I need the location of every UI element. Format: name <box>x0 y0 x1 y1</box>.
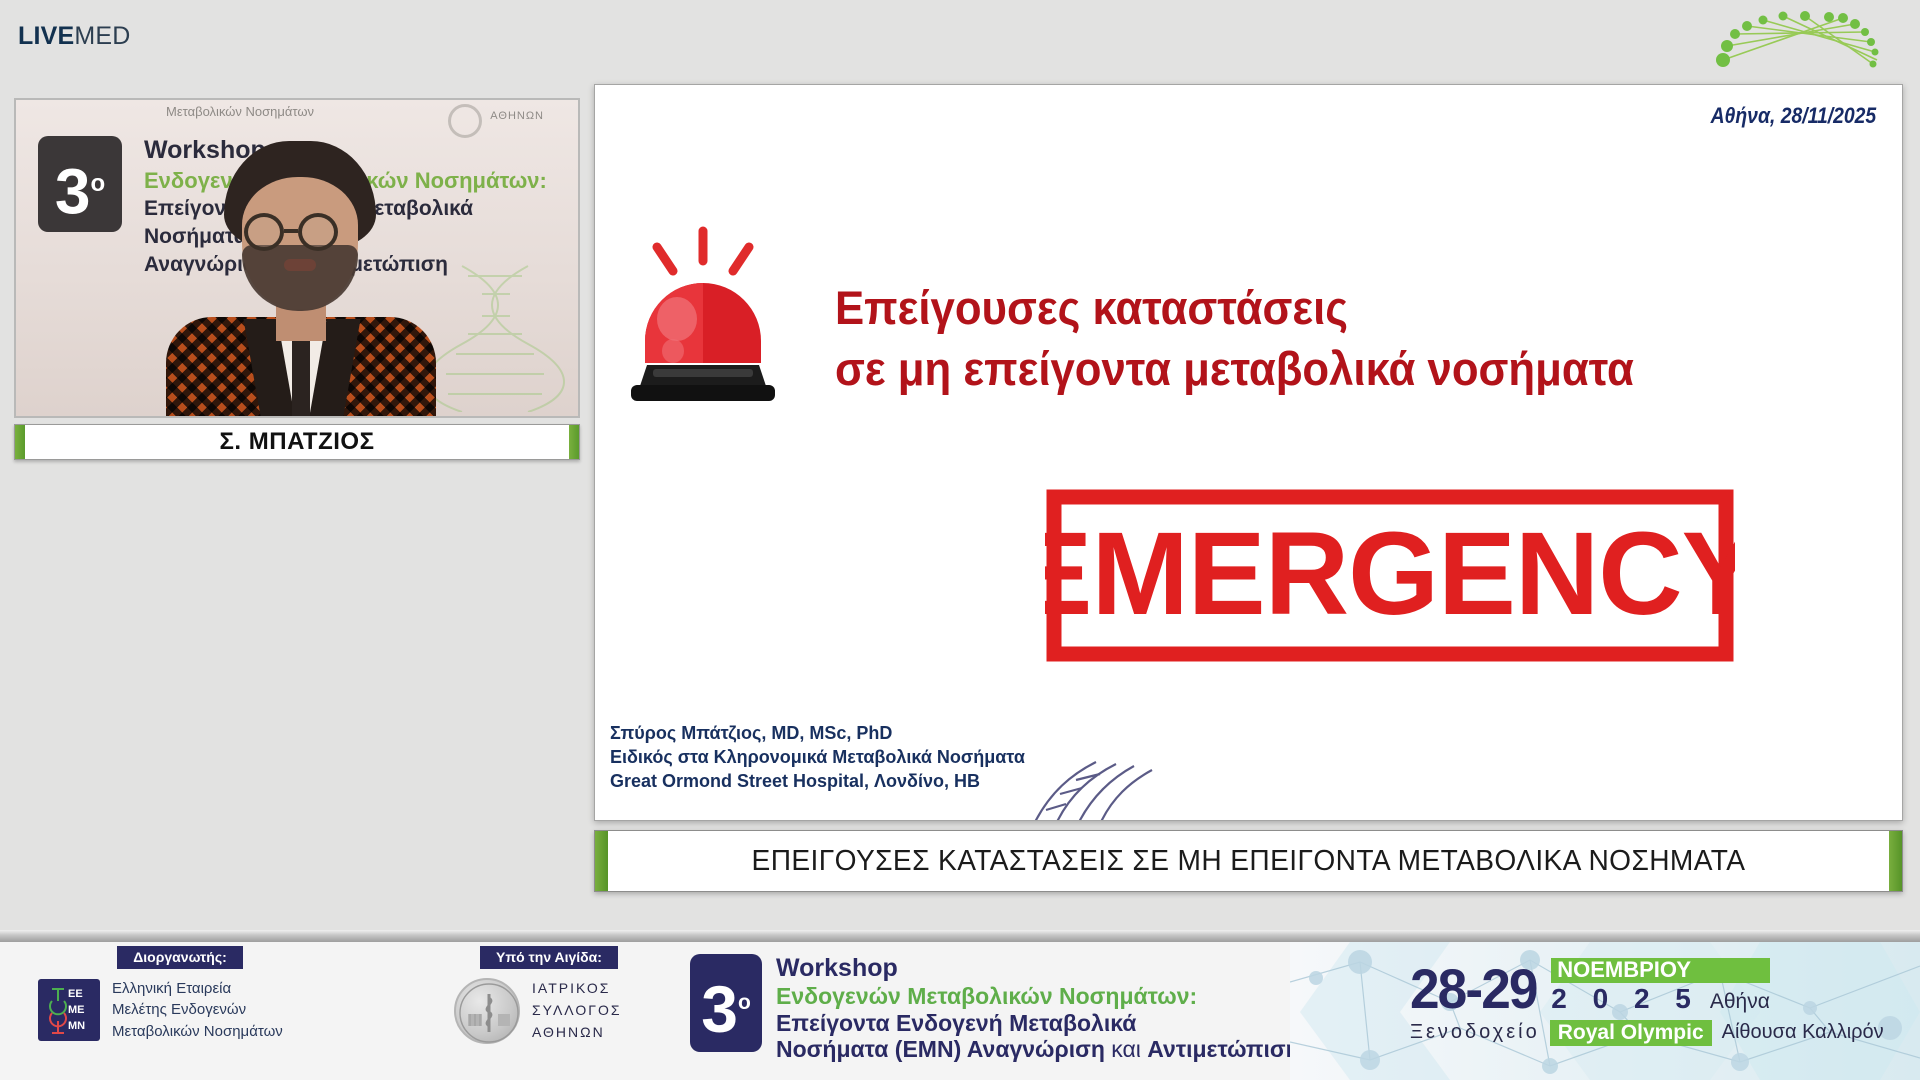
emergency-stamp-text: EMERGENCY <box>1045 507 1735 639</box>
speaker-figure <box>166 141 436 416</box>
name-bar-accent-right <box>569 425 579 459</box>
name-bar-accent-left <box>15 425 25 459</box>
speaker-video-player[interactable]: Μεταβολικών Νοσημάτων ΑΘΗΝΩΝ 3o Workshop… <box>14 98 580 418</box>
backdrop-ordinal: o <box>90 170 105 197</box>
emergency-stamp: EMERGENCY <box>1045 488 1735 663</box>
event-city: Αθήνα <box>1710 990 1770 1014</box>
presentation-slide[interactable]: Αθήνα, 28/11/2025 Επείγουσες καταστάσεις… <box>594 84 1903 821</box>
athens-medical-association-seal <box>454 978 520 1044</box>
workshop-line2: Ενδογενών Μεταβολικών Νοσημάτων: <box>776 983 1300 1010</box>
session-title: ΕΠΕΙΓΟΥΣΕΣ ΚΑΤΑΣΤΑΣΕΙΣ ΣΕ ΜΗ ΕΠΕΙΓΟΝΤΑ Μ… <box>627 845 1870 878</box>
eemen-society-logo: ΕΕΜΕΜΝ <box>38 979 100 1041</box>
workshop-line4-lite: και <box>1105 1036 1147 1062</box>
credits-line1: Σπύρος Μπάτζιος, MD, MSc, PhD <box>610 721 1025 745</box>
event-hotel-name: Royal Olympic <box>1550 1020 1712 1046</box>
bottom-bar-accent-right <box>1889 831 1902 891</box>
livemed-logo[interactable]: LIVEMED <box>18 22 131 51</box>
emergency-beacon-light-icon <box>623 223 783 403</box>
event-dates: 28-29 <box>1410 963 1537 1015</box>
backdrop-top-faint-text: Μεταβολικών Νοσημάτων <box>166 104 314 119</box>
backdrop-seal-text: ΑΘΗΝΩΝ <box>490 110 544 122</box>
backdrop-number: 3 <box>55 155 91 227</box>
event-info-block: 28-29 ΝΟΕΜΒΡΙΟΥ 2 0 2 5 Αθήνα Ξενοδοχείο… <box>1290 942 1920 1080</box>
auspices-block: Υπό την Αιγίδα: ΙΑΤΡΙΚΟΣ ΣΥΛΛΟΓΟΣ ΑΘΗΝΩΝ <box>424 946 684 1044</box>
event-month: ΝΟΕΜΒΡΙΟΥ <box>1551 958 1770 983</box>
auspices-name: ΙΑΤΡΙΚΟΣ ΣΥΛΛΟΓΟΣ ΑΘΗΝΩΝ <box>532 978 622 1043</box>
slide-title-line1: Επείγουσες καταστάσεις <box>835 277 1812 338</box>
auspices-tag: Υπό την Αιγίδα: <box>480 946 618 969</box>
event-year: 2 0 2 5 <box>1551 983 1700 1015</box>
bottom-bar-accent-left <box>595 831 608 891</box>
organiser-line1: Ελληνική Εταιρεία <box>112 978 283 999</box>
dna-strand-icon <box>1000 752 1190 821</box>
speaker-glasses-bridge <box>284 229 298 233</box>
speaker-inner-vest <box>292 337 310 416</box>
event-footer: Διοργανωτής: ΕΕΜΕΜΝ <box>0 942 1920 1080</box>
workshop-ordinal: o <box>738 991 751 1014</box>
speaker-beard <box>242 245 358 311</box>
dna-strand-icon <box>432 262 572 412</box>
slide-date: Αθήνα, 28/11/2025 <box>1710 103 1876 129</box>
brand-med-text: MED <box>74 22 130 50</box>
credits-line2: Ειδικός στα Κληρονομικά Μεταβολικά Νοσήμ… <box>610 745 1025 769</box>
video-frame[interactable]: Μεταβολικών Νοσημάτων ΑΘΗΝΩΝ 3o Workshop… <box>14 98 580 418</box>
organiser-name: Ελληνική Εταιρεία Μελέτης Ενδογενών Μετα… <box>112 978 283 1042</box>
auspices-line1: ΙΑΤΡΙΚΟΣ <box>532 978 622 1000</box>
workshop-branding: 3o Workshop Ενδογενών Μεταβολικών Νοσημά… <box>690 954 1300 1063</box>
workshop-line1: Workshop <box>776 954 1300 983</box>
backdrop-seal-icon <box>448 104 482 138</box>
event-hall: Αίθουσα Καλλιρόν <box>1722 1021 1884 1044</box>
svg-text:ΕΕ: ΕΕ <box>68 988 83 1000</box>
speaker-name: Σ. ΜΠΑΤΖΙΟΣ <box>25 428 569 456</box>
workshop-number: 3 <box>701 972 738 1046</box>
speaker-glasses-right <box>298 213 338 251</box>
organiser-line2: Μελέτης Ενδογενών <box>112 999 283 1020</box>
organiser-tag: Διοργανωτής: <box>117 946 243 969</box>
event-hotel-label: Ξενοδοχείο <box>1410 1021 1540 1044</box>
slide-title: Επείγουσες καταστάσεις σε μη επείγοντα μ… <box>835 277 1812 399</box>
credits-line3: Great Ormond Street Hospital, Λονδίνο, Η… <box>610 769 1025 793</box>
svg-text:ΜΕ: ΜΕ <box>68 1004 85 1016</box>
session-title-bar: ΕΠΕΙΓΟΥΣΕΣ ΚΑΤΑΣΤΑΣΕΙΣ ΣΕ ΜΗ ΕΠΕΙΓΟΝΤΑ Μ… <box>594 830 1903 892</box>
auspices-line2: ΣΥΛΛΟΓΟΣ <box>532 1000 622 1022</box>
organiser-line3: Μεταβολικών Νοσημάτων <box>112 1021 283 1042</box>
speaker-name-bar: Σ. ΜΠΑΤΖΙΟΣ <box>14 424 580 460</box>
speaker-credentials: Σπύρος Μπάτζιος, MD, MSc, PhD Ειδικός στ… <box>610 721 1025 793</box>
workshop-line3: Επείγοντα Ενδογενή Μεταβολικά <box>776 1010 1300 1037</box>
molecule-network-icon <box>1705 2 1895 68</box>
slide-title-line2: σε μη επείγοντα μεταβολικά νοσήματα <box>835 338 1812 399</box>
organiser-block: Διοργανωτής: ΕΕΜΕΜΝ <box>12 946 372 1042</box>
workshop-title: Workshop Ενδογενών Μεταβολικών Νοσημάτων… <box>776 954 1300 1063</box>
workshop-number-badge: 3o <box>690 954 762 1052</box>
brand-live-text: LIVE <box>18 22 74 50</box>
auspices-line3: ΑΘΗΝΩΝ <box>532 1022 622 1044</box>
speaker-mouth <box>284 259 316 271</box>
footer-divider <box>0 930 1920 942</box>
workshop-line4: Νοσήματα (ΕΜΝ) Αναγνώριση και Αντιμετώπι… <box>776 1036 1300 1063</box>
workshop-line4-b: Αντιμετώπιση <box>1147 1036 1299 1062</box>
svg-text:ΜΝ: ΜΝ <box>68 1020 85 1032</box>
app-header: LIVEMED <box>0 0 1920 70</box>
workshop-line4-a: Νοσήματα (ΕΜΝ) Αναγνώριση <box>776 1036 1105 1062</box>
backdrop-number-badge: 3o <box>38 136 122 232</box>
speaker-glasses-left <box>244 213 284 251</box>
